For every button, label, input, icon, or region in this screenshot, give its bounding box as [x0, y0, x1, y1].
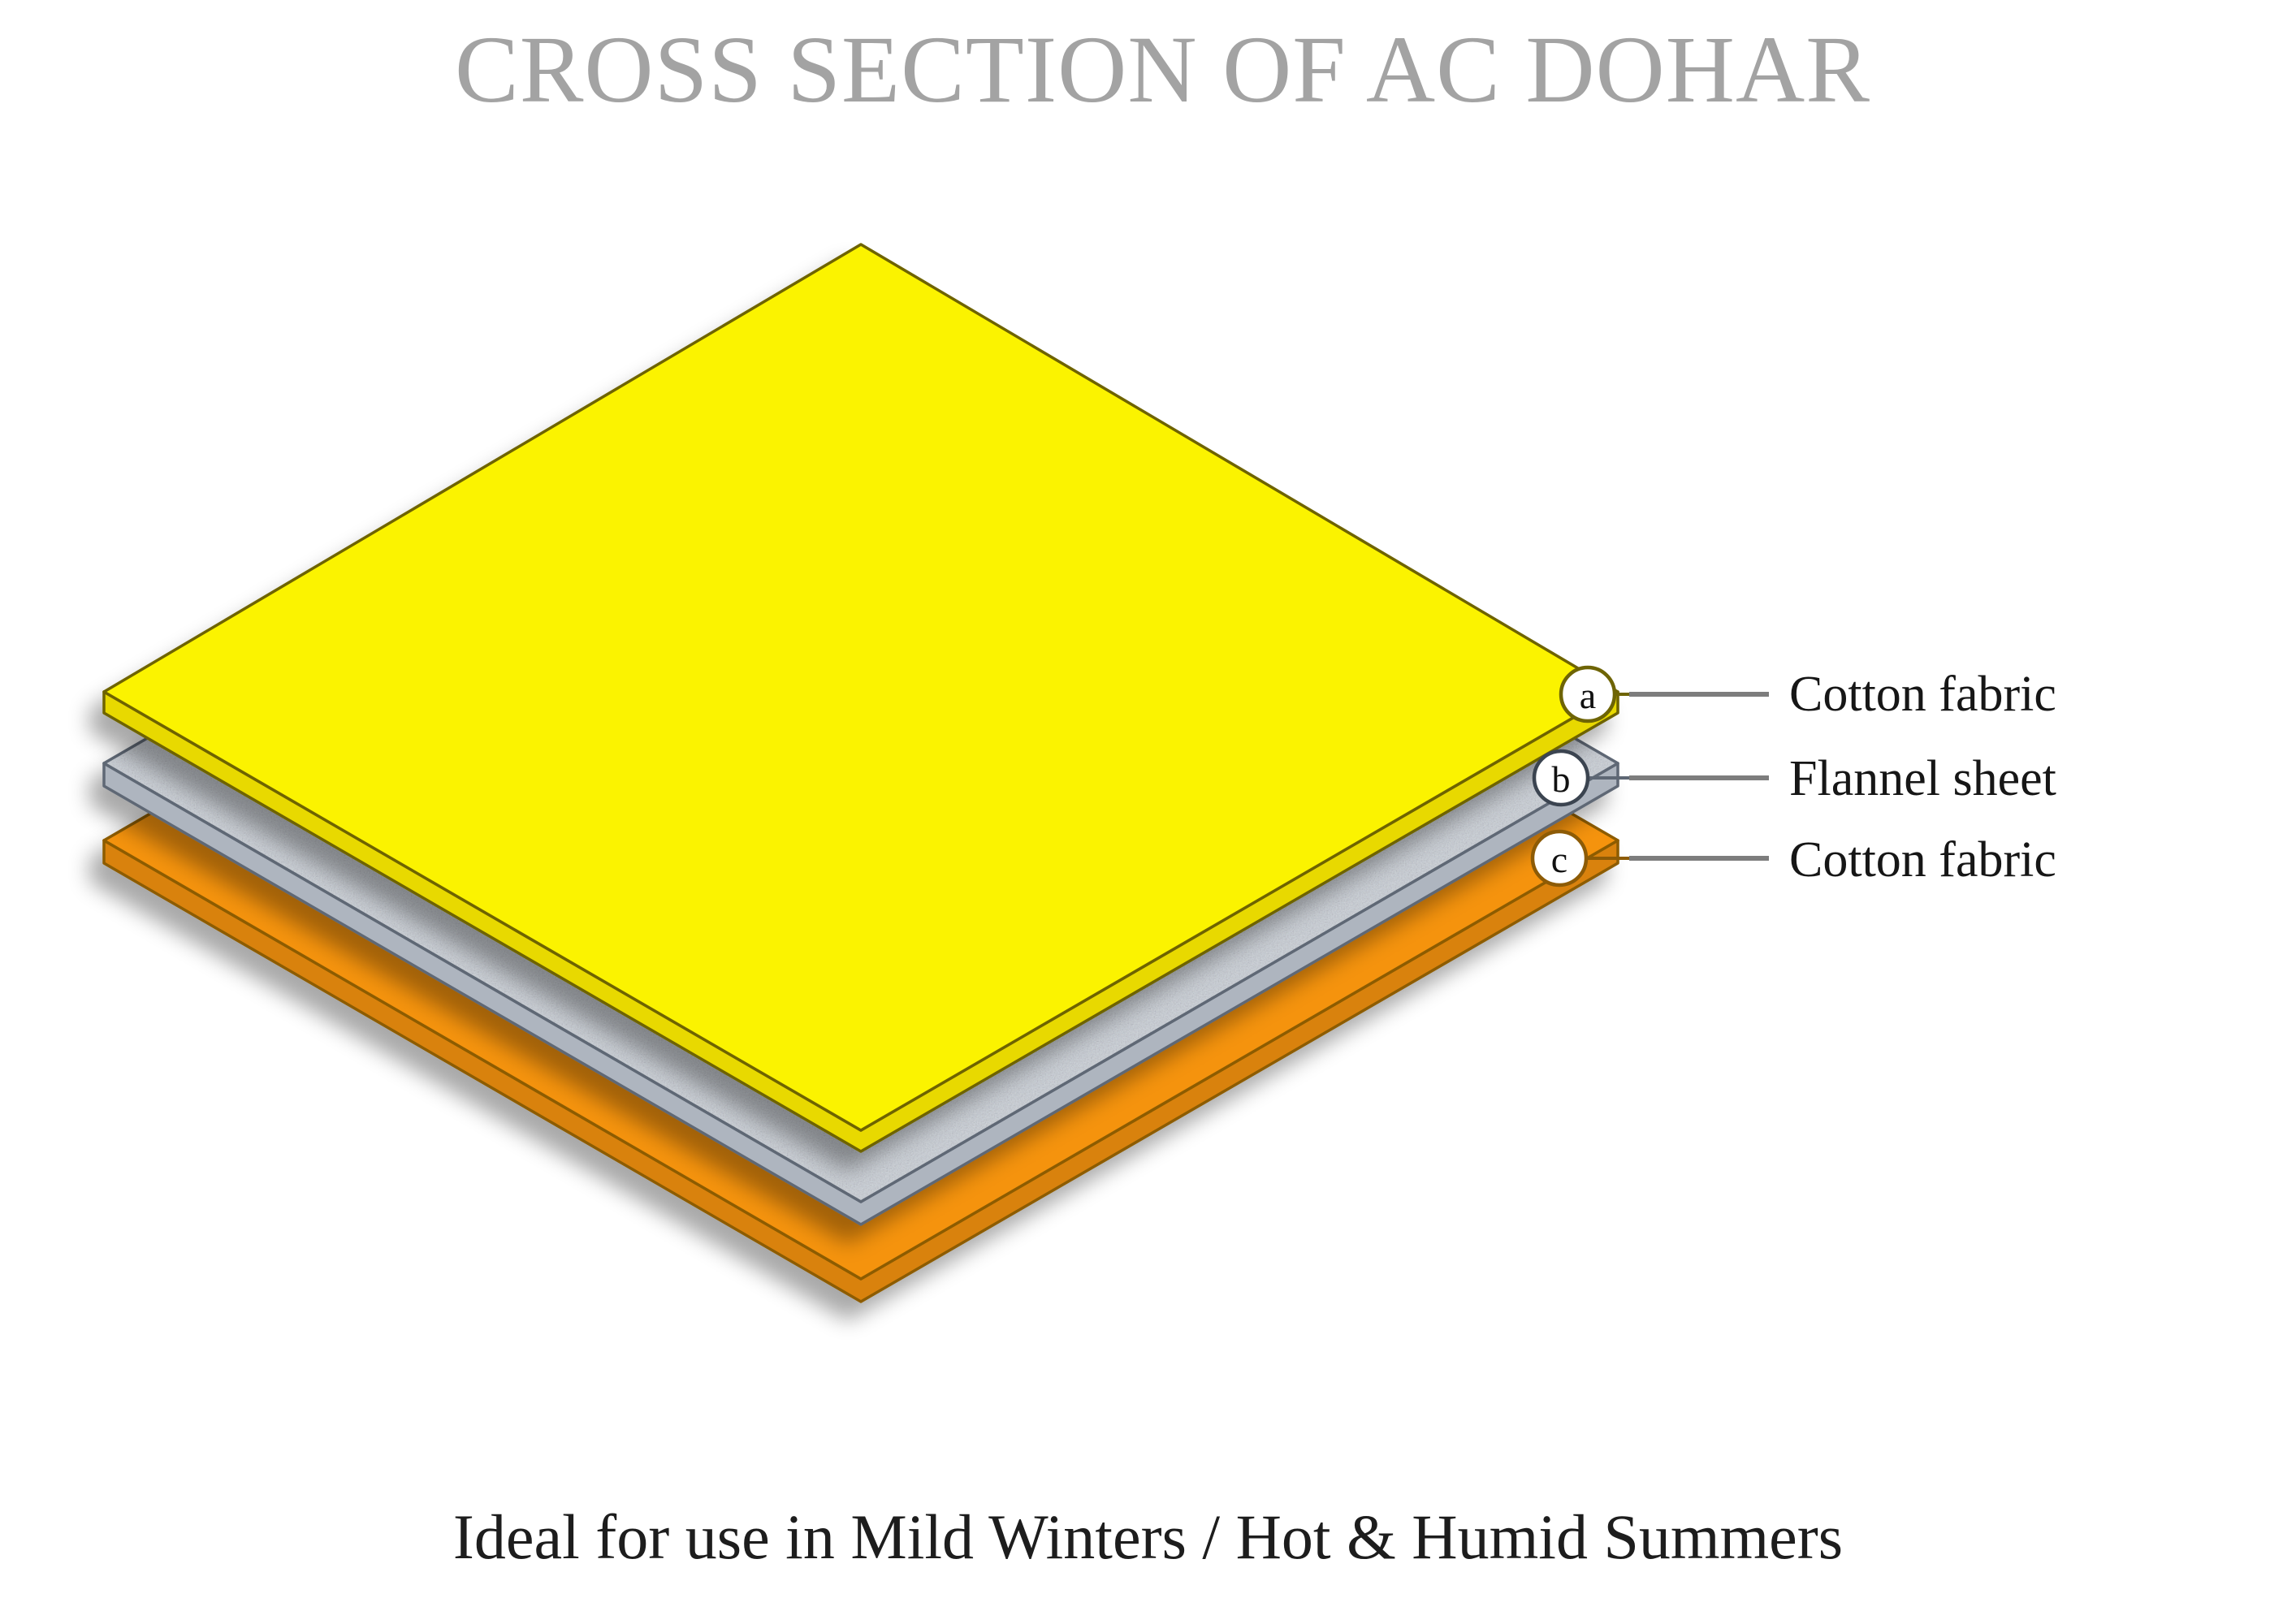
marker-a-letter: a — [1580, 675, 1596, 716]
circle-letter-a-icon[interactable]: a — [1561, 667, 1615, 721]
marker-c-letter: c — [1551, 839, 1567, 880]
layer-stack-illustration: a b c — [0, 0, 2296, 1624]
layer-top-face — [104, 244, 1618, 1130]
circle-letter-b-icon[interactable]: b — [1534, 751, 1588, 805]
circle-letter-c-icon[interactable]: c — [1533, 831, 1586, 885]
callout-label-a: Cotton fabric — [1789, 669, 2056, 719]
callout-label-b: Flannel sheet — [1789, 754, 2056, 804]
diagram-canvas: CROSS SECTION OF AC DOHAR — [0, 0, 2296, 1624]
layer-top-cotton — [104, 244, 1618, 1151]
diagram-caption: Ideal for use in Mild Winters / Hot & Hu… — [0, 1501, 2296, 1574]
callout-label-c: Cotton fabric — [1789, 835, 2056, 885]
marker-b-letter: b — [1552, 758, 1571, 800]
